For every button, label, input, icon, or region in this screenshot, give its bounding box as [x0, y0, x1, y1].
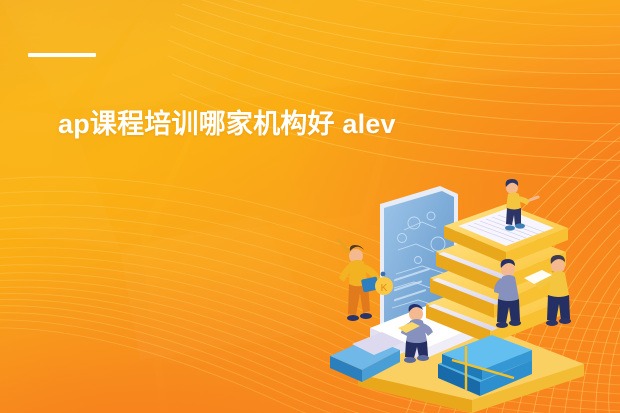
- banner-content: ap课程培训哪家机构好 alev: [0, 0, 620, 413]
- page-title: ap课程培训哪家机构好 alev: [58, 103, 618, 145]
- svg-text:K: K: [381, 283, 388, 294]
- illustration-isometric-books-and-learners: K: [318, 178, 620, 413]
- promo-banner: ap课程培训哪家机构好 alev: [0, 0, 620, 413]
- coin-accent: K: [375, 277, 393, 295]
- title-accent-rule: [28, 53, 96, 57]
- figure-climbing-left: [338, 240, 380, 321]
